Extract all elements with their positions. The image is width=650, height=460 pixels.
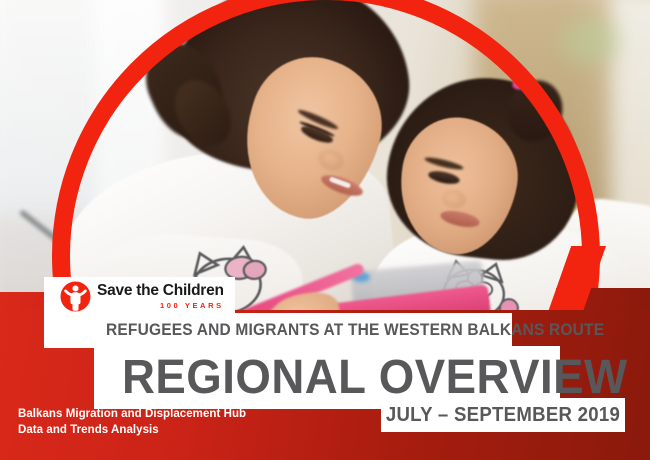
red-circle-ring-icon bbox=[52, 0, 600, 320]
cover-photo bbox=[0, 0, 650, 320]
logo-anniversary: 100 YEARS bbox=[97, 301, 224, 310]
page-title: REGIONAL OVERVIEW bbox=[122, 354, 628, 402]
cover-eyebrow: REFUGEES AND MIGRANTS AT THE WESTERN BAL… bbox=[106, 321, 604, 340]
eyebrow-panel: REFUGEES AND MIGRANTS AT THE WESTERN BAL… bbox=[44, 313, 512, 348]
save-the-children-child-figure-icon bbox=[60, 281, 91, 312]
save-the-children-logo: Save the Children 100 YEARS bbox=[60, 281, 224, 312]
ring-clip bbox=[0, 0, 650, 320]
footer-line-2: Data and Trends Analysis bbox=[18, 422, 246, 438]
footer-text: Balkans Migration and Displacement Hub D… bbox=[18, 406, 246, 439]
date-panel: JULY – SEPTEMBER 2019 bbox=[381, 398, 625, 432]
logo-text: Save the Children 100 YEARS bbox=[97, 283, 224, 309]
date-range: JULY – SEPTEMBER 2019 bbox=[386, 404, 620, 427]
footer-line-1: Balkans Migration and Displacement Hub bbox=[18, 406, 246, 422]
logo-name: Save the Children bbox=[97, 283, 224, 299]
report-cover: REFUGEES AND MIGRANTS AT THE WESTERN BAL… bbox=[0, 0, 650, 460]
